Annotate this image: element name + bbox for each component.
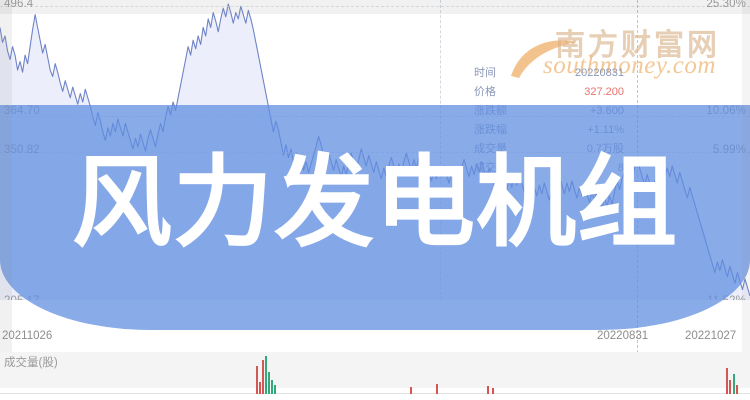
- x-axis-tick-end: 20221027: [685, 330, 736, 342]
- x-axis-tick-mid: 20220831: [597, 330, 648, 342]
- tooltip-value: 20220831: [575, 68, 624, 79]
- page-title: 风力发电机组: [0, 150, 750, 255]
- tooltip-key: 价格: [474, 87, 496, 98]
- top-band: [0, 0, 750, 14]
- tooltip-row: 价格327.200: [474, 83, 624, 102]
- tooltip-key: 时间: [474, 68, 496, 79]
- volume-baseline: [0, 393, 750, 394]
- bottom-band: [0, 352, 750, 388]
- stock-chart-screenshot: 496.4 364.70 350.82 205.17 25.30% 10.06%…: [0, 0, 750, 400]
- tooltip-row: 时间20220831: [474, 64, 624, 83]
- tooltip-value: 327.200: [584, 87, 624, 98]
- volume-bar: [410, 387, 412, 394]
- volume-bar: [492, 388, 494, 394]
